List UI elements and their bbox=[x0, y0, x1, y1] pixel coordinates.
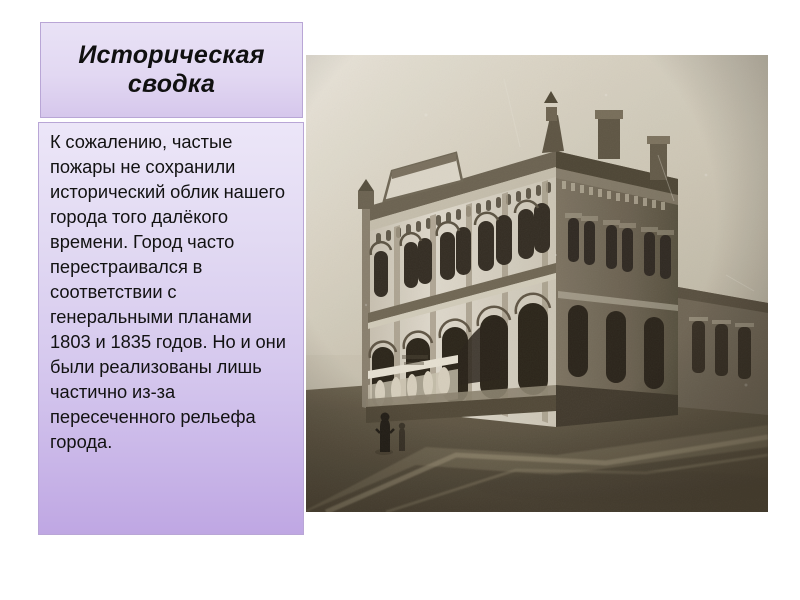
page-title: Историческая сводка bbox=[41, 41, 302, 100]
panel-title-box: Историческая сводка bbox=[40, 22, 303, 118]
slide-canvas: Историческая сводка К сожалению, частые … bbox=[0, 0, 800, 600]
historic-building-photograph bbox=[306, 55, 768, 512]
photograph-artwork bbox=[306, 55, 768, 512]
panel-body-box: К сожалению, частые пожары не сохранили … bbox=[38, 122, 304, 535]
panel-body-text: К сожалению, частые пожары не сохранили … bbox=[50, 130, 293, 455]
